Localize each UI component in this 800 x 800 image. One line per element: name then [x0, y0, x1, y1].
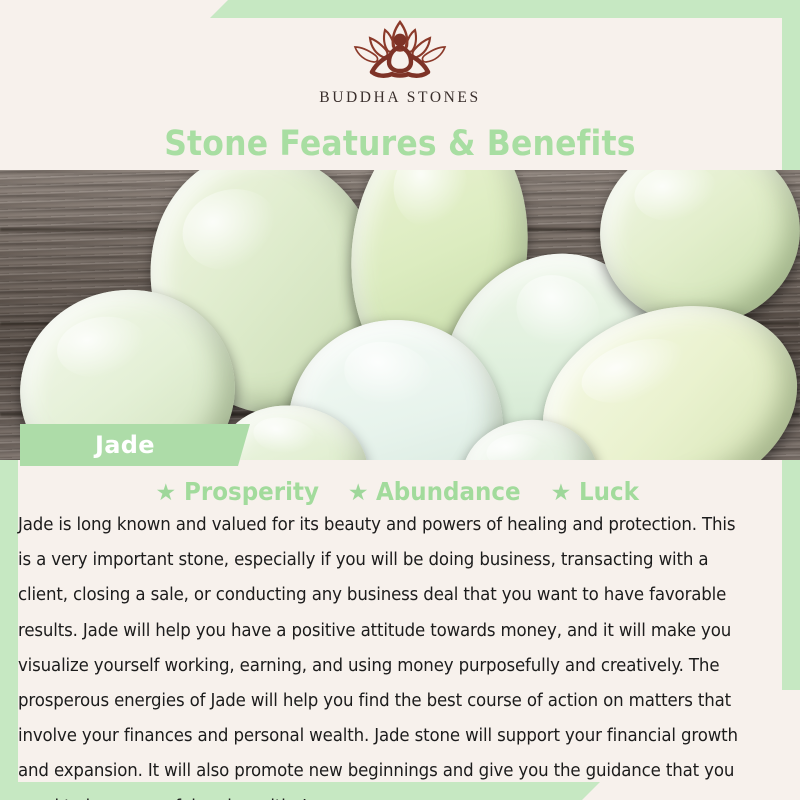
- brand-logo: BUDDHA STONES: [319, 16, 480, 107]
- keyword-label: Luck: [579, 478, 639, 506]
- keyword-item-luck: ★ Luck: [551, 478, 645, 506]
- lotus-meditation-icon: [325, 16, 475, 82]
- page-title: Stone Features & Benefits: [164, 122, 636, 166]
- keyword-item-abundance: ★ Abundance: [348, 478, 534, 506]
- title-strip: Stone Features & Benefits: [0, 122, 800, 166]
- stone-name-banner: Jade: [20, 424, 250, 466]
- star-icon: ★: [156, 481, 177, 504]
- brand-name: BUDDHA STONES: [319, 89, 480, 107]
- stone-name-label: Jade: [95, 431, 155, 459]
- description-text: Jade is long known and valued for its be…: [18, 508, 753, 800]
- stone-info-poster: BUDDHA STONES Stone Features & Benefits …: [0, 0, 800, 800]
- keyword-label: Abundance: [376, 478, 521, 506]
- star-icon: ★: [551, 481, 572, 504]
- stone-photo: [0, 170, 800, 460]
- keyword-item-prosperity: ★ Prosperity: [156, 478, 331, 506]
- keyword-list: ★ Prosperity ★ Abundance ★ Luck: [0, 478, 800, 506]
- keyword-label: Prosperity: [184, 478, 319, 506]
- star-icon: ★: [348, 481, 369, 504]
